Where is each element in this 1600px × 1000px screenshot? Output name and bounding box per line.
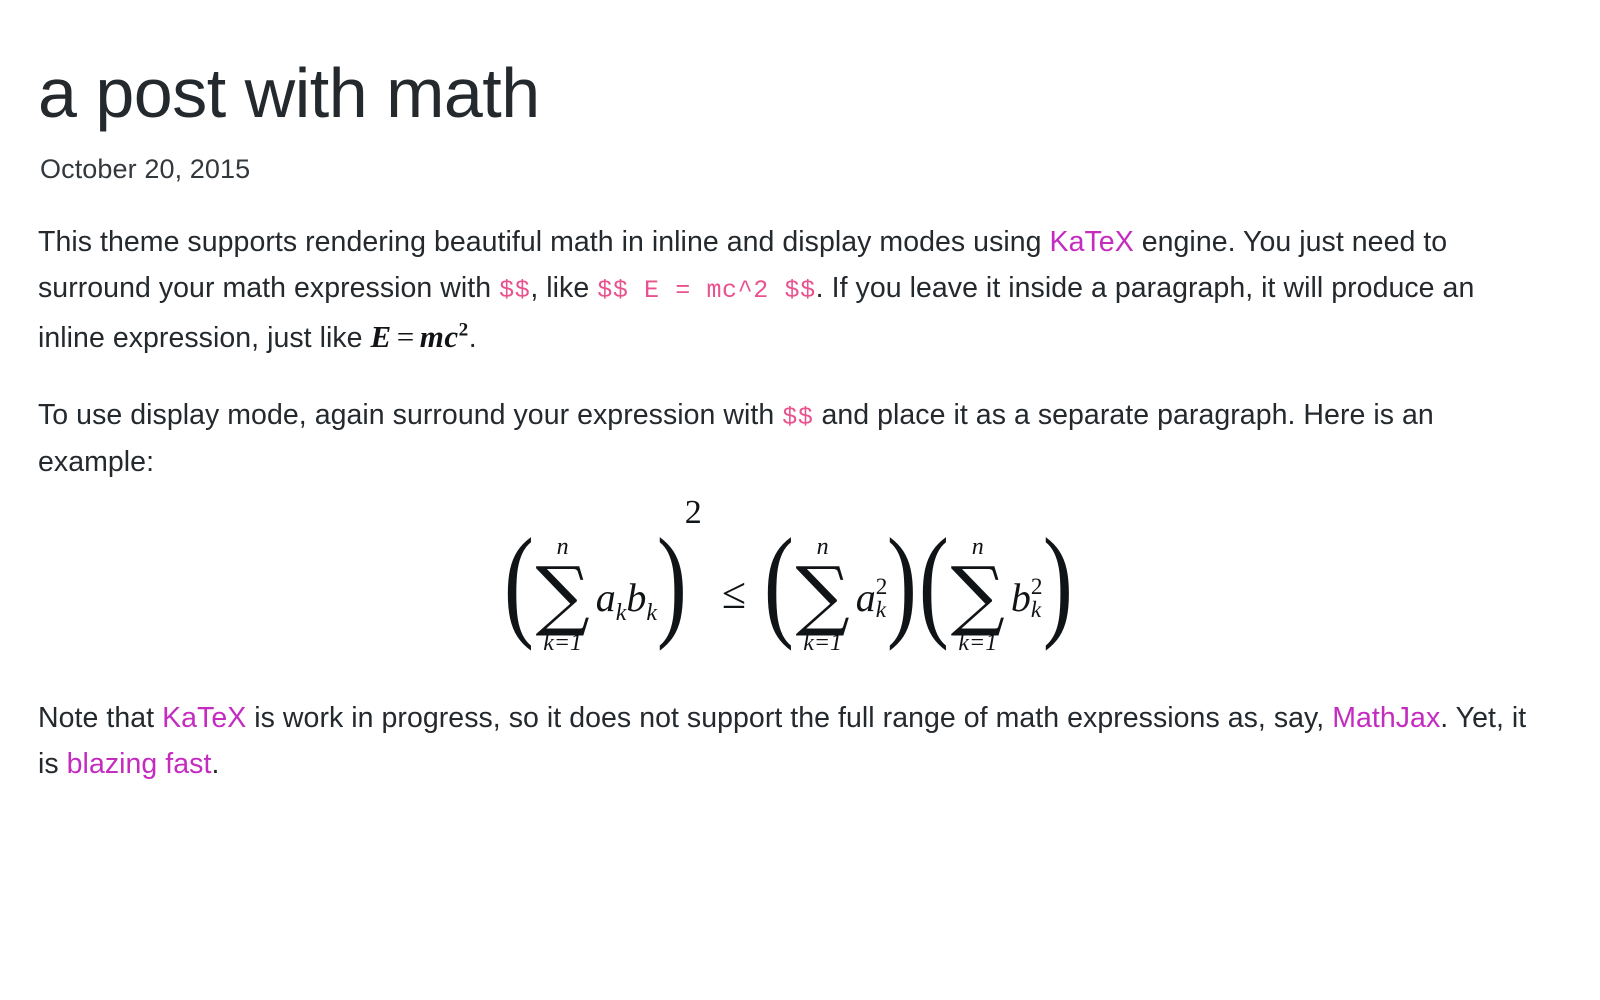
math-group-b-squared: ( n ∑ k=1 b2k ) [919,528,1072,651]
inline-math-emc2: E=mc2 [371,319,469,354]
summand-b-squared: b2k [1011,574,1043,625]
term-a-base: a [856,575,876,620]
paren-close-1: ) [657,528,687,638]
summand-a-squared: a2k [856,574,888,625]
summand-akbk: akbk [596,574,657,627]
term-b-subsup: 2k [1031,576,1043,623]
summation-2: n ∑ k=1 [796,534,850,657]
term-b-superscript: 2 [1031,576,1043,600]
post-page: a post with math October 20, 2015 This t… [0,0,1600,1000]
group-exponent: 2 [685,494,702,532]
inline-math-rhs-base: mc [420,319,459,354]
post-date: October 20, 2015 [40,154,1540,185]
term-b-base: b [1011,575,1031,620]
paragraph1-text-part3: , like [530,272,597,304]
code-dollar-delimiters-2: $$ [782,403,813,432]
code-math-example: $$ E = mc^2 $$ [597,276,815,305]
link-katex-intro[interactable]: KaTeX [1050,226,1134,258]
term-a-subscript: k [616,600,627,626]
inline-math-rhs-exponent: 2 [459,319,469,340]
sigma-icon-2: ∑ [796,561,850,629]
sum-lower-limit-1: k=1 [543,630,582,656]
paragraph-note: Note that KaTeX is work in progress, so … [38,695,1538,788]
math-group-a-squared: ( n ∑ k=1 a2k ) [764,528,917,651]
sigma-icon-1: ∑ [535,561,589,629]
paragraph3-text-part1: Note that [38,702,162,734]
display-math-cauchy-schwarz: ( n ∑ k=1 akbk ) 2 ≤ ( n ∑ [38,528,1538,651]
paren-open-3: ( [919,528,949,638]
link-mathjax[interactable]: MathJax [1332,702,1440,734]
paragraph3-text-part2: is work in progress, so it does not supp… [246,702,1332,734]
sum-lower-limit-3: k=1 [958,630,997,656]
inline-math-operator: = [392,319,420,354]
term-a-superscript: 2 [876,576,888,600]
equation: ( n ∑ k=1 akbk ) 2 ≤ ( n ∑ [504,528,1072,651]
sigma-icon-3: ∑ [951,561,1005,629]
paragraph-intro: This theme supports rendering beautiful … [38,219,1538,363]
term-a-subsup: 2k [876,576,888,623]
paren-close-3: ) [1042,528,1072,638]
link-katex-note[interactable]: KaTeX [162,702,246,734]
paren-open-2: ( [764,528,794,638]
paragraph2-text-part1: To use display mode, again surround your… [38,399,782,431]
term-a-subscript-2: k [876,599,886,623]
term-b-subscript: k [646,600,657,626]
math-group-left: ( n ∑ k=1 akbk ) 2 [504,528,704,651]
sum-lower-limit-2: k=1 [803,630,842,656]
paragraph1-text-part1: This theme supports rendering beautiful … [38,226,1050,258]
relation-leq: ≤ [706,568,762,619]
paren-open-1: ( [504,528,534,638]
paragraph-display-mode: To use display mode, again surround your… [38,392,1538,485]
summation-1: n ∑ k=1 [535,534,589,657]
link-blazing-fast[interactable]: blazing fast [67,748,212,780]
inline-math-lhs: E [371,319,392,354]
summation-3: n ∑ k=1 [951,534,1005,657]
paragraph3-text-part4: . [211,748,219,780]
paren-close-2: ) [887,528,917,638]
code-dollar-delimiters: $$ [499,276,530,305]
term-a: a [596,575,616,620]
page-title: a post with math [38,56,1540,132]
term-b: b [626,575,646,620]
term-b-subscript-2: k [1031,599,1041,623]
post-body: This theme supports rendering beautiful … [38,219,1538,788]
paragraph1-text-part5: . [469,322,477,354]
